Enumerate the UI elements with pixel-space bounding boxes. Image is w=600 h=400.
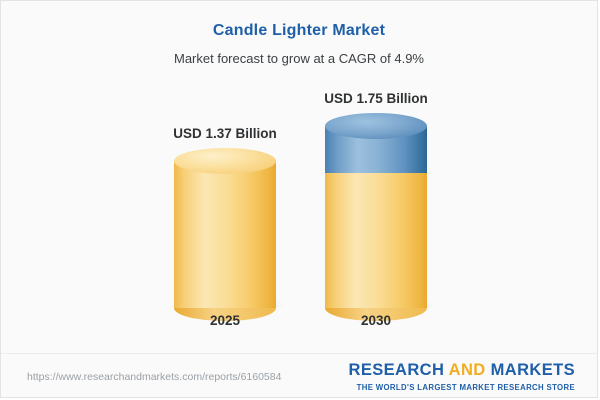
cylinder-bar-2025[interactable] xyxy=(174,161,276,308)
chart-plot-area: USD 1.37 Billion 2025 USD 1.75 Billion xyxy=(1,86,597,346)
cylinder-bar-2030[interactable] xyxy=(325,126,427,308)
logo-text-markets: MARKETS xyxy=(491,361,575,379)
logo-text-and: AND xyxy=(449,361,486,379)
logo-tagline: THE WORLD'S LARGEST MARKET RESEARCH STOR… xyxy=(349,383,576,392)
cylinder-top-ellipse xyxy=(174,148,276,174)
bar-value-label-2025: USD 1.37 Billion xyxy=(145,126,305,141)
brand-logo[interactable]: RESEARCH AND MARKETS THE WORLD'S LARGEST… xyxy=(349,361,576,392)
cylinder-top-ellipse xyxy=(325,113,427,139)
market-infographic: Candle Lighter Market Market forecast to… xyxy=(0,0,598,398)
logo-wordmark: RESEARCH AND MARKETS xyxy=(349,361,576,380)
axis-label-2030: 2030 xyxy=(296,313,456,328)
page-title: Candle Lighter Market xyxy=(1,21,597,41)
bar-segment-growth-2030 xyxy=(325,126,427,173)
logo-text-research: RESEARCH xyxy=(349,361,445,379)
source-url-link[interactable]: https://www.researchandmarkets.com/repor… xyxy=(27,371,281,383)
bar-segment-base-2025 xyxy=(174,161,276,308)
cylinder-body xyxy=(174,161,276,308)
axis-label-2025: 2025 xyxy=(145,313,305,328)
bar-value-label-2030: USD 1.75 Billion xyxy=(296,91,456,106)
chart-subtitle: Market forecast to grow at a CAGR of 4.9… xyxy=(1,50,597,67)
chart-header: Candle Lighter Market Market forecast to… xyxy=(1,1,597,67)
bar-segment-base-2030 xyxy=(325,173,427,308)
footer-divider xyxy=(1,353,597,354)
cylinder-body xyxy=(325,173,427,308)
